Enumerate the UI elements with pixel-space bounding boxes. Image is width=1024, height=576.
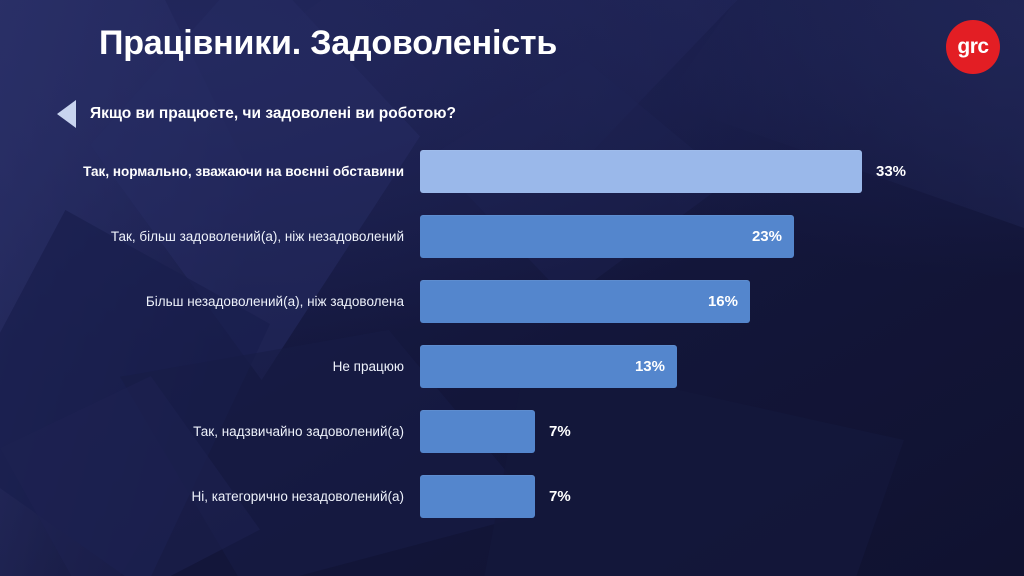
chart-row: Так, більш задоволений(а), ніж незадовол… [0, 215, 1024, 258]
bar-track: 7% 7% [420, 410, 1024, 453]
bar-chart: Так, нормально, зважаючи на воєнні обста… [0, 150, 1024, 540]
bar-value-outside: 33% [876, 163, 906, 180]
bar-4: 7% [420, 410, 535, 453]
bar-3: 13% [420, 345, 677, 388]
bar-category-label: Більш незадоволений(а), ніж задоволена [0, 294, 420, 309]
bar-category-label: Не працюю [0, 359, 420, 374]
bar-track: 7% 7% [420, 475, 1024, 518]
page-title: Працівники. Задоволеність [99, 24, 557, 63]
bar-category-label: Ні, категорично незадоволений(а) [0, 489, 420, 504]
logo-text: grc [957, 36, 988, 59]
chart-row: Більш незадоволений(а), ніж задоволена 1… [0, 280, 1024, 323]
bar-track: 33% 33% [420, 150, 1024, 193]
chart-row: Так, нормально, зважаючи на воєнні обста… [0, 150, 1024, 193]
slide-background: Працівники. Задоволеність grc Якщо ви пр… [0, 0, 1024, 576]
chart-row: Не працюю 13% 13% [0, 345, 1024, 388]
bar-track: 16% 16% [420, 280, 1024, 323]
bar-value-inside: 13% [635, 358, 677, 375]
bar-0: 33% [420, 150, 862, 193]
bar-value-outside: 7% [549, 423, 571, 440]
bar-value-outside: 7% [549, 488, 571, 505]
bar-2: 16% [420, 280, 750, 323]
triangle-left-icon [57, 100, 76, 128]
bar-5: 7% [420, 475, 535, 518]
question-text: Якщо ви працюєте, чи задоволені ви робот… [90, 105, 456, 123]
bar-track: 23% 23% [420, 215, 1024, 258]
chart-row: Так, надзвичайно задоволений(а) 7% 7% [0, 410, 1024, 453]
bar-category-label: Так, надзвичайно задоволений(а) [0, 424, 420, 439]
subtitle-row: Якщо ви працюєте, чи задоволені ви робот… [57, 100, 456, 128]
bar-track: 13% 13% [420, 345, 1024, 388]
bar-1: 23% [420, 215, 794, 258]
grc-logo: grc [946, 20, 1000, 74]
bar-value-inside: 23% [752, 228, 794, 245]
bar-category-label: Так, більш задоволений(а), ніж незадовол… [0, 229, 420, 244]
bar-value-inside: 16% [708, 293, 750, 310]
chart-row: Ні, категорично незадоволений(а) 7% 7% [0, 475, 1024, 518]
bar-category-label: Так, нормально, зважаючи на воєнні обста… [0, 164, 420, 179]
